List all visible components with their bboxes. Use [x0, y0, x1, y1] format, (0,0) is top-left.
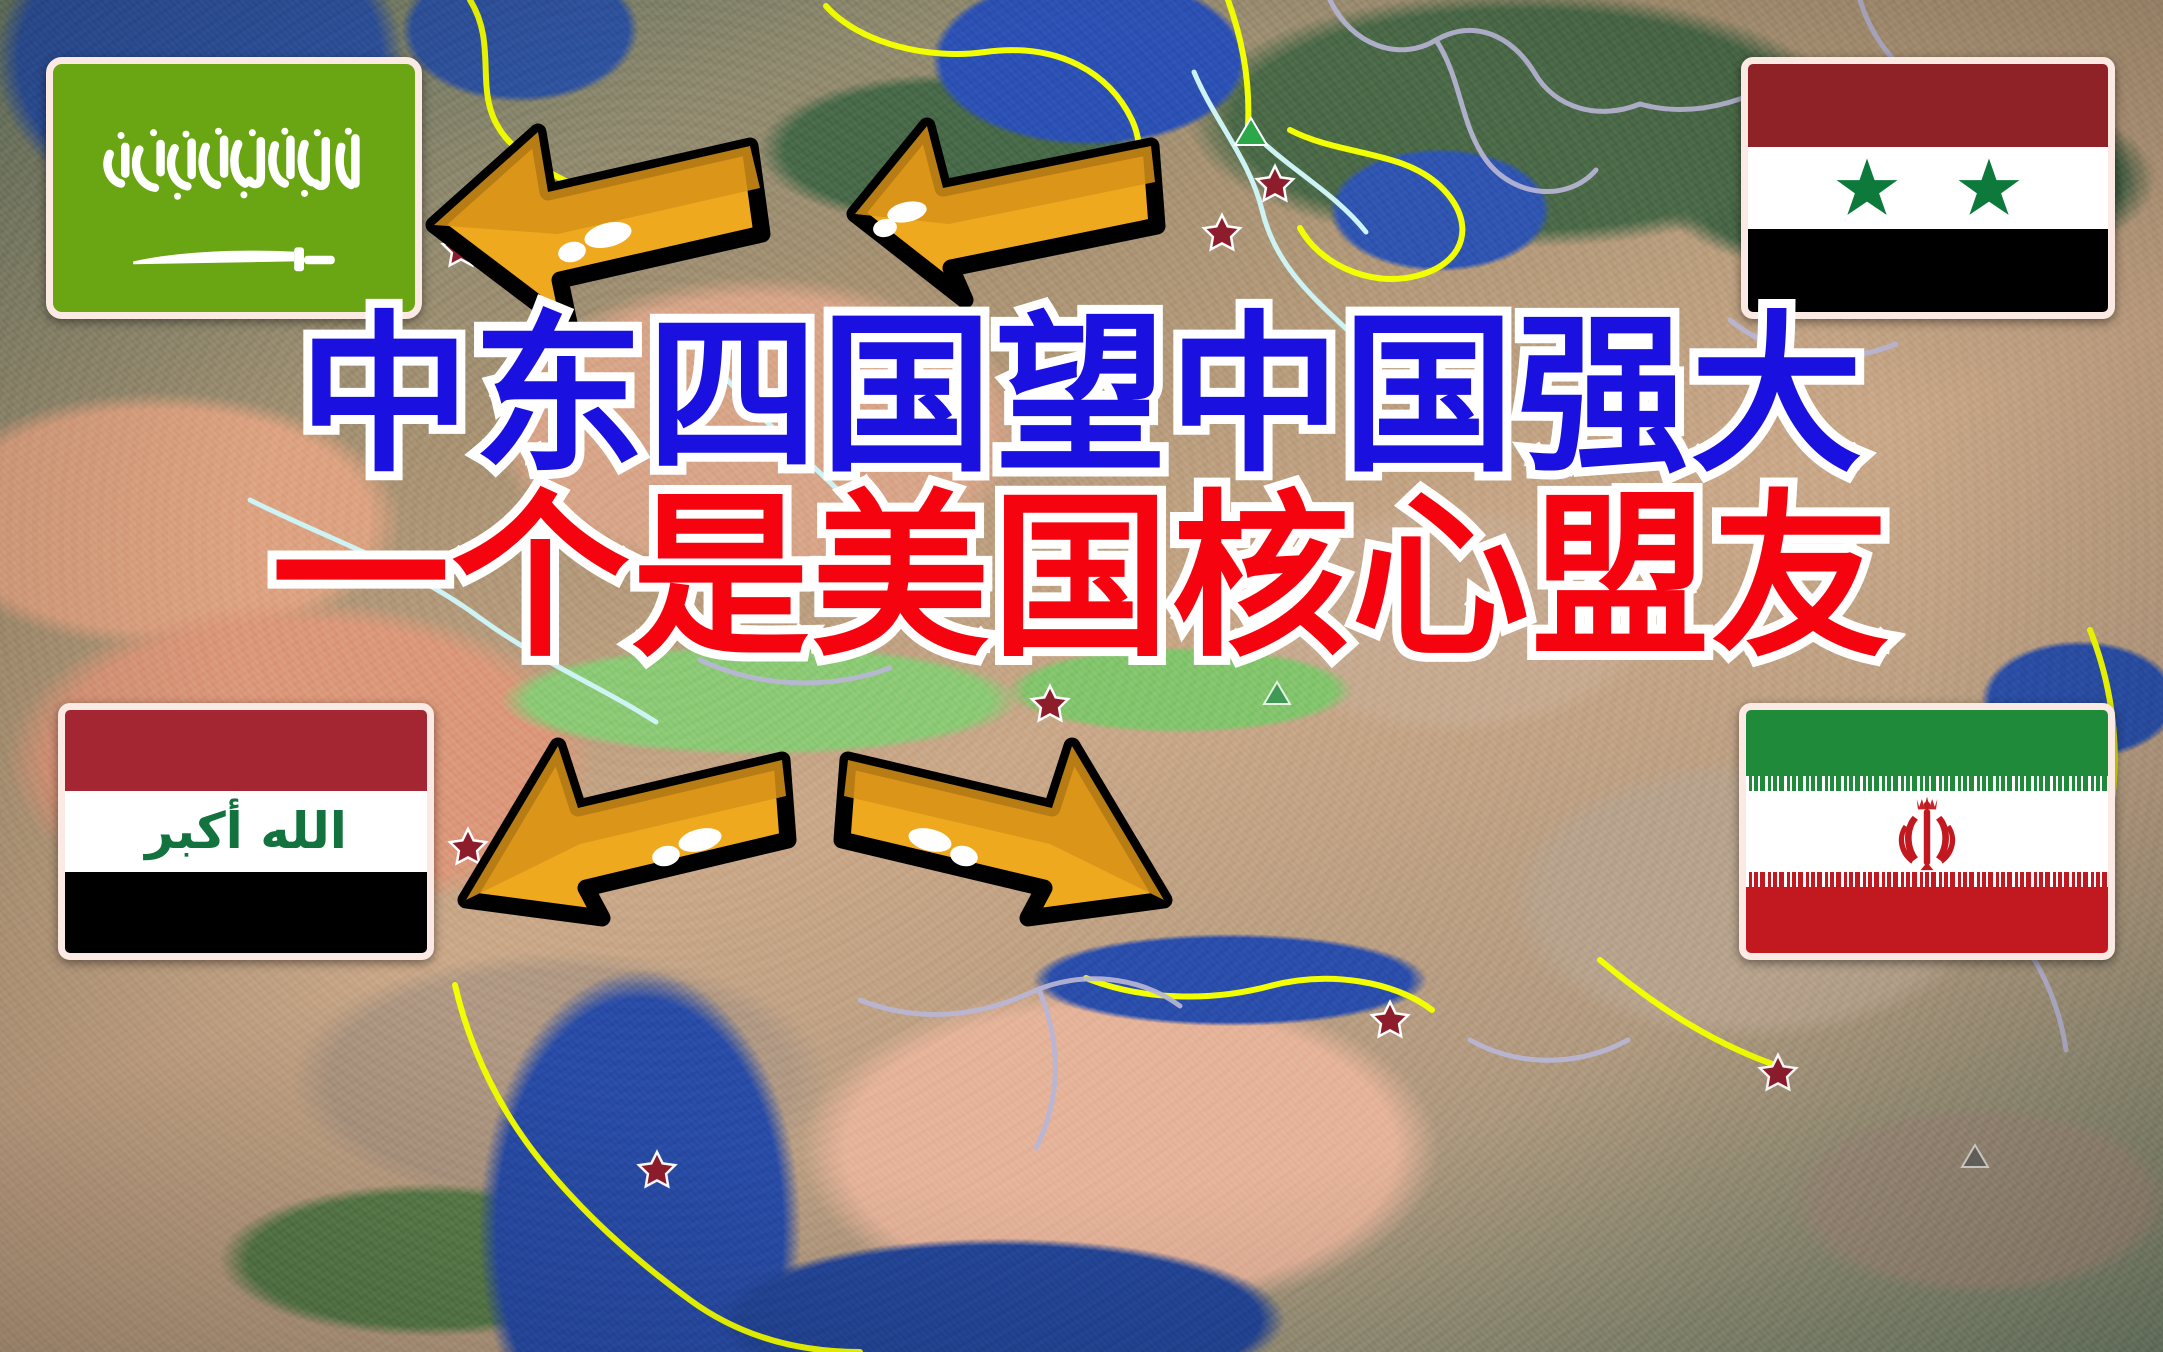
flag-band-red	[65, 710, 427, 791]
syria-flag	[1741, 57, 2115, 319]
arrow-pointing-to-iran-flag	[838, 730, 1178, 920]
green-star-icon	[1835, 156, 1899, 220]
flag-band-red	[1746, 872, 2108, 953]
flag-band-red	[1748, 64, 2108, 147]
kufic-border-bottom	[1746, 872, 2108, 887]
flag-band-black	[65, 872, 427, 953]
flag-band-white	[1748, 147, 2108, 229]
iran-flag	[1739, 703, 2115, 960]
flag-band-green	[1746, 710, 2108, 791]
shahada-calligraphy	[93, 116, 375, 220]
takbir-script: الله أكبر	[145, 806, 347, 856]
saudi-arabia-flag	[46, 57, 422, 319]
sword-emblem	[129, 240, 339, 280]
thumbnail-canvas: الله أكبر	[0, 0, 2163, 1352]
green-star-icon	[1957, 156, 2021, 220]
flag-band-white	[1746, 791, 2108, 872]
iran-emblem-icon	[1888, 790, 1966, 874]
flag-band-white: الله أكبر	[65, 791, 427, 872]
arrow-pointing-to-syria-flag	[845, 118, 1165, 308]
arrow-pointing-to-saudi-flag	[412, 130, 772, 330]
iraq-flag: الله أكبر	[58, 703, 434, 960]
flag-band-black	[1748, 229, 2108, 312]
arrow-pointing-to-iraq-flag	[452, 730, 792, 920]
